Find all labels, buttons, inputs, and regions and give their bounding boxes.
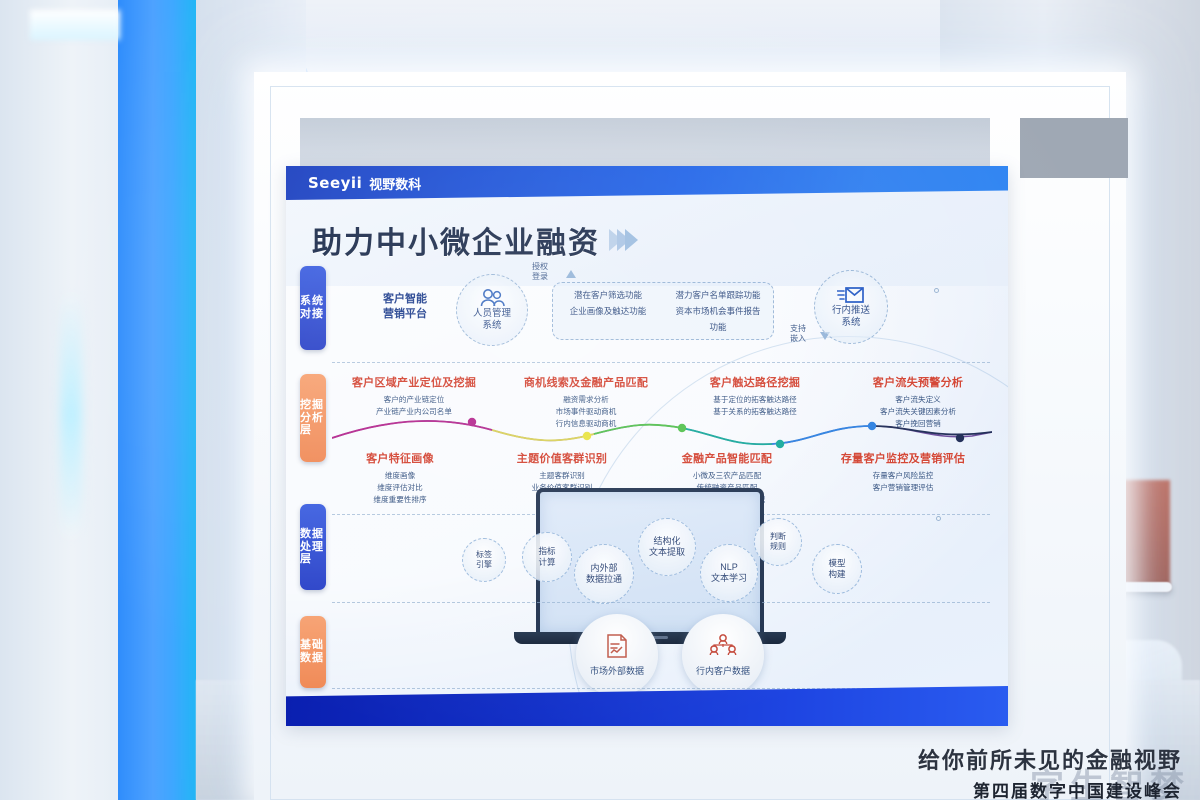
booth-signage: 给你前所未见的金融视野 第四届数字中国建设峰会 xyxy=(776,743,1196,800)
chevron-right-icon xyxy=(614,229,638,251)
processing-bubble-2-line1: 内外部 xyxy=(590,563,617,573)
processing-bubble-2[interactable]: 内外部 数据拉通 xyxy=(574,544,634,604)
flow-wave-graphic xyxy=(332,412,992,452)
mining-title-bottom-3: 存量客户监控及营销评估 xyxy=(810,450,996,466)
mining-item-bottom-2-0: 小微及三农产品匹配 xyxy=(648,470,806,482)
mining-item-top-3-0: 客户流失定义 xyxy=(838,394,998,406)
processing-bubble-3-line1: 结构化 xyxy=(653,536,680,546)
mining-title-bottom-0: 客户特征画像 xyxy=(322,450,478,466)
hr-system-line1: 人员管理 xyxy=(473,308,511,320)
embed-line2: 嵌入 xyxy=(782,334,814,344)
exhibition-booth-photo: Seeyii 视野数科 助力中小微企业融资 系统对接 挖掘分析层 数据处理层 基… xyxy=(0,0,1200,800)
processing-bubble-0-line2: 引擎 xyxy=(476,560,492,569)
marker-dot-2 xyxy=(936,516,941,521)
processing-bubble-2-line2: 数据拉通 xyxy=(586,574,622,584)
processing-bubble-1[interactable]: 指标 计算 xyxy=(522,532,572,582)
mining-item-bottom-3-1: 客户营销管理评估 xyxy=(810,482,996,494)
processing-bubble-4[interactable]: NLP 文本学习 xyxy=(700,544,758,602)
mining-block-top-2: 客户触达路径挖掘 基于定位的拓客触达路径 基于关系的拓客触达路径 xyxy=(674,374,836,418)
sidebar-item-processing[interactable]: 数据处理层 xyxy=(300,504,326,590)
feature-item-2: 企业画像及触达功能 xyxy=(553,303,663,335)
page-title: 助力中小微企业融资 xyxy=(312,218,600,262)
poster-footer-band xyxy=(286,686,1008,726)
users-icon xyxy=(479,288,505,308)
platform-label: 客户智能 营销平台 xyxy=(370,292,440,323)
sidebar-item-system[interactable]: 系统对接 xyxy=(300,266,326,350)
mining-item-top-1-0: 融资需求分析 xyxy=(504,394,668,406)
feature-item-3: 资本市场机会事件报告功能 xyxy=(663,303,773,335)
push-system-line2: 系统 xyxy=(841,317,860,329)
mining-block-top-0: 客户区域产业定位及挖掘 客户的产业链定位 产业链产业内公司名单 xyxy=(330,374,498,418)
mining-item-bottom-3-0: 存量客户风险监控 xyxy=(810,470,996,482)
mail-send-icon xyxy=(837,285,865,305)
processing-bubble-1-line2: 计算 xyxy=(538,557,555,567)
processing-bubble-0[interactable]: 标签 引擎 xyxy=(462,538,506,582)
processing-bubble-5-line2: 规则 xyxy=(770,542,786,551)
mining-title-top-1: 商机线索及金融产品匹配 xyxy=(504,374,668,390)
push-system-line1: 行内推送 xyxy=(832,305,870,317)
base-data-label-0: 市场外部数据 xyxy=(590,664,644,677)
sidebar-item-label-mining: 挖掘分析层 xyxy=(300,399,326,438)
push-system-node[interactable]: 行内推送 系统 xyxy=(814,270,888,344)
mining-title-bottom-2: 金融产品智能匹配 xyxy=(648,450,806,466)
base-data-label-1: 行内客户数据 xyxy=(696,664,750,677)
panel-backdrop-dark xyxy=(1020,118,1128,178)
sidebar-item-label-system: 系统对接 xyxy=(300,295,326,321)
blue-pillar xyxy=(118,0,196,800)
sidebar-item-label-base: 基础数据 xyxy=(300,639,326,665)
mining-block-bottom-0: 客户特征画像 维度画像 维度评估对比 维度重要性排序 xyxy=(322,450,478,505)
embed-connector-label: 支持 嵌入 xyxy=(782,324,814,345)
processing-bubble-6-line1: 模型 xyxy=(828,558,845,568)
triangle-up-icon xyxy=(566,270,576,278)
sidebar-item-mining[interactable]: 挖掘分析层 xyxy=(300,374,326,462)
processing-bubble-0-line1: 标签 xyxy=(476,550,492,559)
processing-bubble-6-line2: 构建 xyxy=(828,569,845,579)
mining-item-bottom-1-0: 主题客群识别 xyxy=(482,470,642,482)
mining-item-bottom-0-1: 维度评估对比 xyxy=(322,482,478,494)
feature-item-0: 潜在客户筛选功能 xyxy=(553,287,663,303)
system-features-box: 潜在客户筛选功能 潜力客户名单跟踪功能 企业画像及触达功能 资本市场机会事件报告… xyxy=(552,282,774,340)
auth-line2: 登录 xyxy=(522,272,558,282)
ceiling-light xyxy=(30,10,120,40)
processing-bubble-6[interactable]: 模型 构建 xyxy=(812,544,862,594)
architecture-poster: Seeyii 视野数科 助力中小微企业融资 系统对接 挖掘分析层 数据处理层 基… xyxy=(286,166,1008,726)
mining-title-top-3: 客户流失预警分析 xyxy=(838,374,998,390)
processing-bubble-5[interactable]: 判断 规则 xyxy=(754,518,802,566)
brand-logo-chinese: 视野数科 xyxy=(369,174,421,193)
report-chart-icon xyxy=(604,633,630,659)
feature-item-1: 潜力客户名单跟踪功能 xyxy=(663,287,773,303)
base-data-item-1[interactable]: 行内客户数据 xyxy=(682,614,764,696)
processing-bubble-3[interactable]: 结构化 文本提取 xyxy=(638,518,696,576)
mining-title-top-0: 客户区域产业定位及挖掘 xyxy=(330,374,498,390)
processing-bubble-3-line2: 文本提取 xyxy=(649,547,685,557)
processing-bubble-4-line1: NLP xyxy=(720,562,738,572)
mining-item-bottom-0-0: 维度画像 xyxy=(322,470,478,482)
divider-processing xyxy=(332,602,990,603)
platform-label-line1: 客户智能 xyxy=(370,292,440,307)
brand-logo-latin: Seeyii xyxy=(308,174,362,192)
processing-bubble-4-line2: 文本学习 xyxy=(711,573,747,583)
sidebar-item-label-processing: 数据处理层 xyxy=(300,528,326,567)
mining-title-top-2: 客户触达路径挖掘 xyxy=(674,374,836,390)
divider-system xyxy=(332,362,990,363)
sidebar-item-base[interactable]: 基础数据 xyxy=(300,616,326,688)
brand-header-bar: Seeyii 视野数科 xyxy=(286,166,1008,200)
processing-bubble-1-line1: 指标 xyxy=(538,546,555,556)
embed-line1: 支持 xyxy=(782,324,814,334)
auth-line1: 授权 xyxy=(522,262,558,272)
marker-dot-1 xyxy=(934,288,939,293)
mining-item-top-0-0: 客户的产业链定位 xyxy=(330,394,498,406)
poster-title-row: 助力中小微企业融资 xyxy=(312,218,638,262)
booth-slogan: 给你前所未见的金融视野 xyxy=(776,743,1182,775)
mining-title-bottom-1: 主题价值客群识别 xyxy=(482,450,642,466)
mining-item-top-2-0: 基于定位的拓客触达路径 xyxy=(674,394,836,406)
hr-system-node[interactable]: 人员管理 系统 xyxy=(456,274,528,346)
booth-event-name: 第四届数字中国建设峰会 xyxy=(776,777,1182,800)
auth-login-connector-label: 授权 登录 xyxy=(522,262,558,283)
org-people-icon xyxy=(708,633,738,659)
mining-block-bottom-3: 存量客户监控及营销评估 存量客户风险监控 客户营销管理评估 xyxy=(810,450,996,494)
hr-system-line2: 系统 xyxy=(482,320,501,332)
processing-bubble-5-line1: 判断 xyxy=(770,532,786,541)
platform-label-line2: 营销平台 xyxy=(370,307,440,322)
mining-item-bottom-0-2: 维度重要性排序 xyxy=(322,494,478,506)
light-strip xyxy=(60,290,82,540)
base-data-item-0[interactable]: 市场外部数据 xyxy=(576,614,658,696)
